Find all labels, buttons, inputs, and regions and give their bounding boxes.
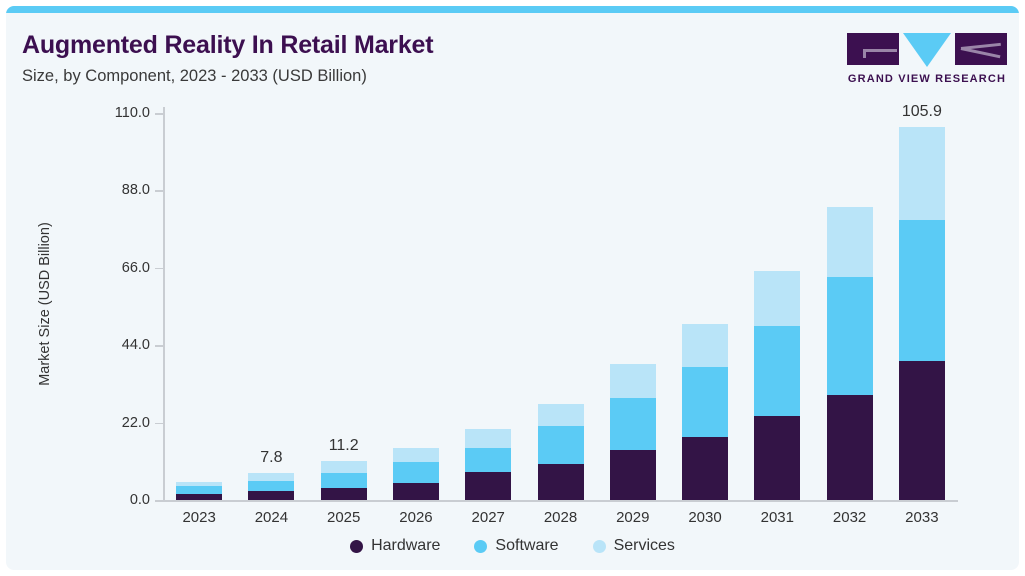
bar-stack[interactable]: [465, 429, 511, 500]
y-axis-tick-label: 44.0: [90, 337, 150, 353]
legend-item[interactable]: Services: [593, 537, 675, 555]
bar-segment-software[interactable]: [754, 326, 800, 416]
bar-segment-services[interactable]: [754, 271, 800, 326]
legend-label: Hardware: [371, 537, 440, 555]
bar-segment-services[interactable]: [248, 473, 294, 481]
bar-segment-hardware[interactable]: [393, 483, 439, 500]
bar-segment-hardware[interactable]: [682, 437, 728, 500]
y-axis-tick: [155, 190, 163, 192]
bar-segment-software[interactable]: [248, 481, 294, 492]
bar-segment-software[interactable]: [899, 220, 945, 361]
bar-value-label: 11.2: [284, 437, 404, 455]
bar-segment-hardware[interactable]: [465, 472, 511, 500]
bar-segment-services[interactable]: [176, 482, 222, 487]
y-axis-tick: [155, 345, 163, 347]
legend-swatch-icon: [350, 540, 363, 553]
bar-segment-software[interactable]: [682, 367, 728, 437]
y-axis-tick: [155, 113, 163, 115]
bar-stack[interactable]: 105.9: [899, 127, 945, 500]
bar-segment-services[interactable]: [321, 461, 367, 473]
bar-stack[interactable]: [754, 271, 800, 500]
bar-segment-services[interactable]: [393, 448, 439, 462]
bar-segment-services[interactable]: [610, 364, 656, 398]
bar-segment-hardware[interactable]: [754, 416, 800, 500]
bar-stack[interactable]: [610, 364, 656, 500]
legend-swatch-icon: [474, 540, 487, 553]
bar-segment-software[interactable]: [610, 398, 656, 450]
legend-label: Services: [614, 537, 675, 555]
bar-segment-hardware[interactable]: [248, 491, 294, 500]
bar-stack[interactable]: [682, 324, 728, 500]
legend-item[interactable]: Software: [474, 537, 558, 555]
y-axis-tick-label: 88.0: [90, 182, 150, 198]
bar-segment-hardware[interactable]: [899, 361, 945, 500]
legend-item[interactable]: Hardware: [350, 537, 440, 555]
chart-plot-area: Market Size (USD Billion) 0.022.044.066.…: [6, 6, 1019, 570]
bar-stack[interactable]: [538, 404, 584, 500]
y-axis-tick: [155, 268, 163, 270]
bar-segment-services[interactable]: [682, 324, 728, 367]
bar-segment-hardware[interactable]: [321, 488, 367, 500]
x-axis-line: [163, 500, 958, 502]
bar-segment-software[interactable]: [538, 426, 584, 464]
y-axis-tick: [155, 500, 163, 502]
bar-segment-services[interactable]: [465, 429, 511, 448]
bar-segment-hardware[interactable]: [610, 450, 656, 500]
legend-label: Software: [495, 537, 558, 555]
bar-segment-services[interactable]: [899, 127, 945, 220]
y-axis-tick-label: 110.0: [90, 105, 150, 121]
chart-legend: HardwareSoftwareServices: [6, 537, 1019, 555]
bar-stack[interactable]: [827, 207, 873, 500]
bar-stack[interactable]: [393, 448, 439, 500]
bar-segment-software[interactable]: [393, 462, 439, 483]
chart-card: Augmented Reality In Retail Market Size,…: [6, 6, 1019, 570]
x-axis-tick-label: 2033: [862, 509, 982, 526]
bar-segment-software[interactable]: [176, 486, 222, 493]
bar-stack[interactable]: 11.2: [321, 461, 367, 500]
bar-stack[interactable]: [176, 482, 222, 500]
bar-segment-services[interactable]: [827, 207, 873, 277]
bar-segment-hardware[interactable]: [827, 395, 873, 500]
y-axis-tick-label: 22.0: [90, 415, 150, 431]
bar-segment-services[interactable]: [538, 404, 584, 426]
y-axis-title: Market Size (USD Billion): [37, 189, 53, 419]
bar-segment-hardware[interactable]: [176, 494, 222, 500]
bar-segment-software[interactable]: [321, 473, 367, 488]
bar-segment-hardware[interactable]: [538, 464, 584, 500]
bar-segment-software[interactable]: [465, 448, 511, 472]
y-axis-tick-label: 66.0: [90, 260, 150, 276]
legend-swatch-icon: [593, 540, 606, 553]
y-axis-tick-label: 0.0: [90, 492, 150, 508]
bar-segment-software[interactable]: [827, 277, 873, 395]
bar-stack[interactable]: 7.8: [248, 473, 294, 500]
bar-value-label: 105.9: [862, 103, 982, 121]
y-axis-tick: [155, 423, 163, 425]
y-axis-line: [163, 107, 165, 500]
